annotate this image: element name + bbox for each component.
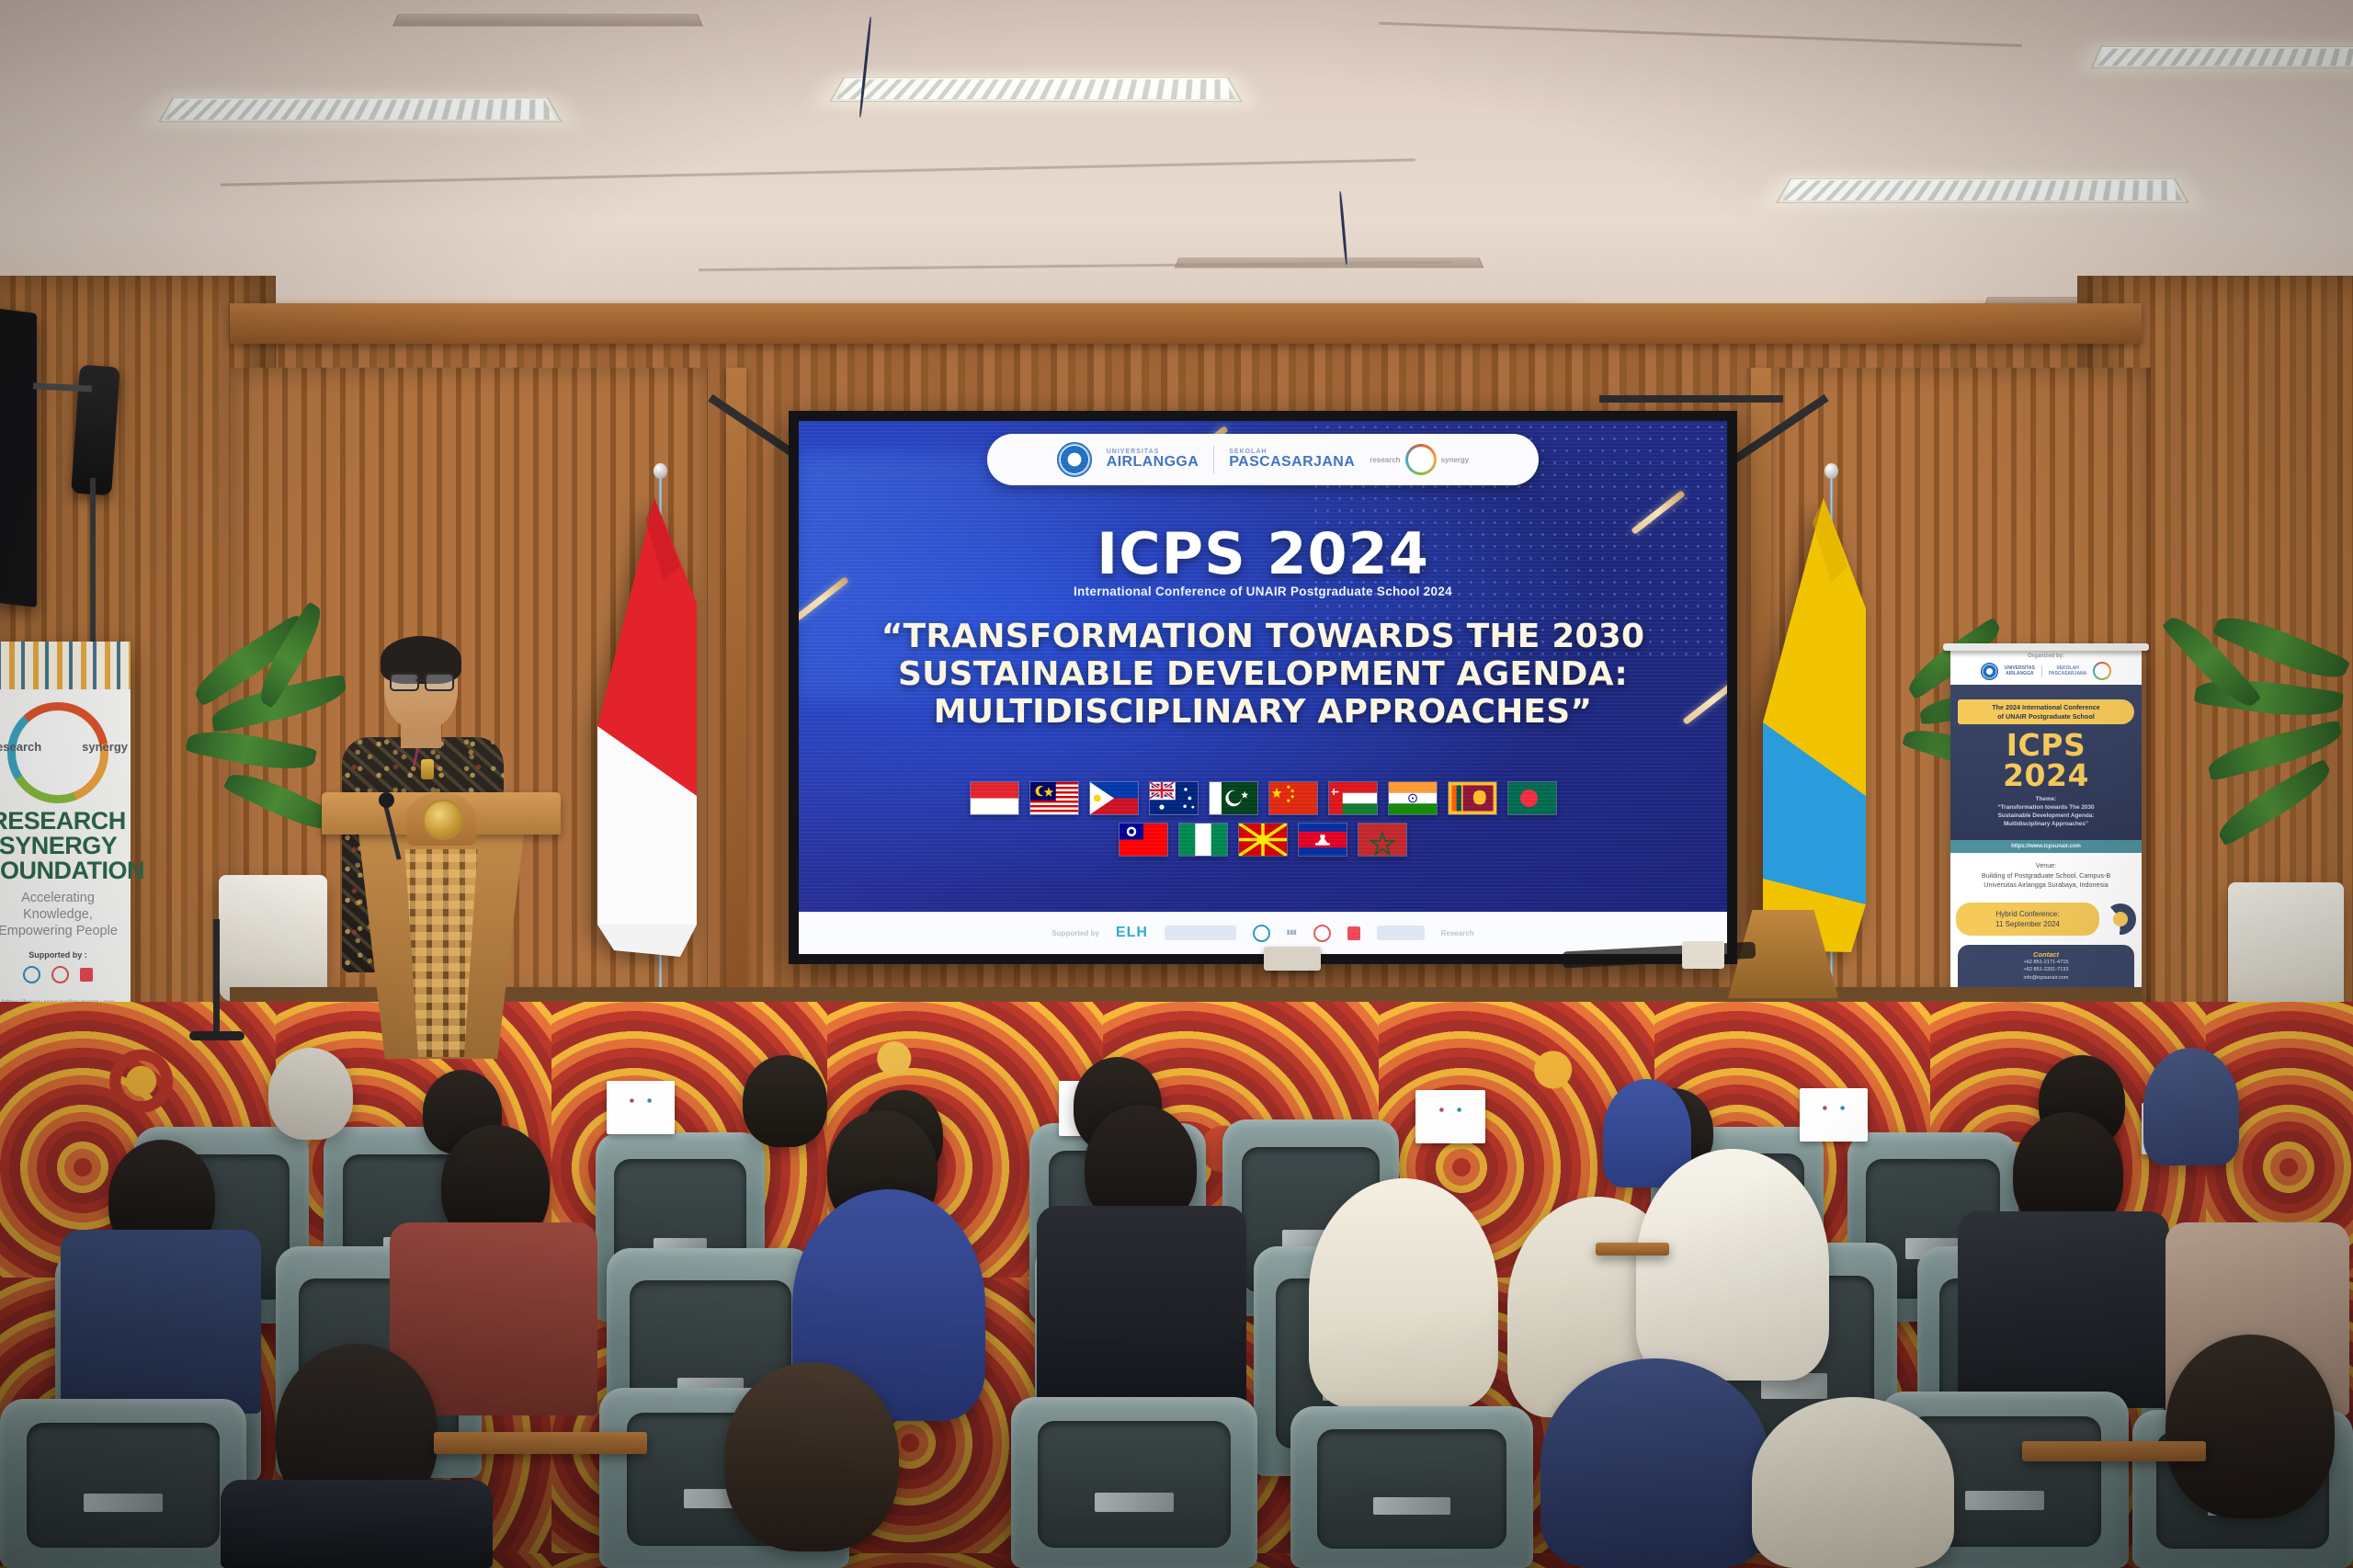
university-gold-seal-icon	[423, 800, 463, 840]
audience-hijab	[2143, 1048, 2239, 1165]
participating-country-flags	[799, 781, 1727, 864]
rollup-theme-line-2: Sustainable Development Agenda:	[1958, 812, 2134, 821]
sponsor-logo-chip	[1377, 926, 1425, 940]
flag-sri-lanka	[1448, 781, 1497, 815]
rollup-school-label: SEKOLAHPASCASARJANA	[2049, 665, 2086, 676]
rollup-theme-line-1: “Transformation towards The 2030	[1958, 804, 2134, 812]
rsf-word-research: research	[0, 740, 41, 754]
flag-pakistan	[1209, 781, 1258, 815]
rollup-theme-line-3: Multidisciplinary Approaches”	[1958, 821, 2134, 829]
ceiling	[0, 0, 2353, 317]
audience-hijab	[1309, 1178, 1498, 1408]
banner-ornament-top	[0, 642, 131, 689]
audience-hijab	[1540, 1358, 1770, 1568]
rsf-tagline-line-2: Empowering People	[0, 923, 131, 939]
conference-hall-photo: UNIVERSITAS AIRLANGGA SEKOLAH PASCASARJA…	[0, 0, 2353, 1568]
rollup-divider	[2041, 665, 2042, 677]
ceiling-light	[1776, 178, 2189, 203]
rollup-organized-label: Organized by:	[1954, 653, 2138, 659]
slide-subtitle: International Conference of UNAIR Postgr…	[799, 585, 1727, 598]
audience-torso	[61, 1230, 261, 1414]
planter-right	[2228, 882, 2344, 1020]
rollup-theme: Theme: “Transformation towards The 2030 …	[1958, 796, 2134, 829]
audience-head	[268, 1048, 353, 1140]
flag-north-macedonia	[1238, 823, 1288, 857]
rollup-tagline: The 2024 International Conference of UNA…	[1958, 699, 2134, 724]
rollup-arc-icon	[2105, 903, 2136, 935]
theme-line-3: MULTIDISCIPLINARY APPROACHES”	[835, 693, 1689, 731]
sponsor-square-logo-icon	[1347, 926, 1360, 940]
school-big-label: PASCASARJANA	[1229, 455, 1355, 470]
flag-philippines	[1089, 781, 1139, 815]
rollup-venue-line-2: Universitas Airlangga Surabaya, Indonesi…	[1956, 881, 2136, 890]
chair[interactable]	[1290, 1406, 1533, 1568]
planter-left	[219, 875, 327, 1002]
universitas-airlangga-flag	[1752, 493, 1875, 961]
side-table	[434, 1432, 647, 1454]
research-synergy-ring-icon	[1405, 444, 1437, 475]
rollup-website-url: https://www.icpsunair.com	[1950, 840, 2142, 853]
ceiling-light	[158, 97, 563, 122]
rollup-date-pill: Hybrid Conference: 11 September 2024	[1956, 903, 2099, 936]
ceiling-light	[829, 77, 1243, 102]
audience-hijab	[1636, 1149, 1829, 1381]
rsf-heading-line-1: RESEARCH	[0, 809, 131, 834]
rollup-venue-line-1: Building of Postgraduate School, Campus-…	[1956, 871, 2136, 881]
theme-line-1: “TRANSFORMATION TOWARDS THE 2030	[835, 618, 1689, 655]
rollup-contact-panel: Contact +62 851-2171-4715 +62 851-2331-7…	[1958, 945, 2134, 987]
flag-row-bottom	[799, 823, 1727, 857]
research-synergy-ring-icon: research synergy	[7, 702, 108, 803]
microphone-head-icon	[379, 792, 394, 808]
sponsor-elh-logo: ELH	[1116, 925, 1148, 941]
rollup-top-bar	[1943, 643, 2149, 651]
rsf-heading-line-3: FOUNDATION	[0, 858, 131, 883]
rollup-contact-phone-1: +62 851-2171-4715	[1963, 959, 2129, 966]
flagpole-finial-right	[1824, 463, 1838, 479]
podium-lectern	[322, 792, 561, 1059]
flag-taiwan	[1119, 823, 1168, 857]
flag-oman	[1328, 781, 1378, 815]
rollup-tagline-line-1: The 2024 International Conference	[1963, 703, 2129, 712]
sponsor-ring-logo-icon	[1313, 925, 1331, 942]
rsf-tagline-line-1: Accelerating Knowledge,	[0, 890, 131, 923]
side-table	[2022, 1441, 2206, 1461]
presentation-slide: UNIVERSITAS AIRLANGGA SEKOLAH PASCASARJA…	[799, 421, 1727, 954]
wall-vertical-beam	[726, 368, 746, 1002]
audience-torso	[221, 1480, 493, 1568]
flagpole-finial-left	[654, 463, 667, 479]
flag-china	[1268, 781, 1318, 815]
rollup-contact-email: info@icpsunair.com	[1963, 974, 2129, 982]
supporter-logo-icon	[51, 966, 69, 983]
logo-divider	[1213, 446, 1214, 473]
flag-morocco	[1358, 823, 1407, 857]
slide-logo-bar: UNIVERSITAS AIRLANGGA SEKOLAH PASCASARJA…	[987, 434, 1539, 485]
university-big-label: AIRLANGGA	[1107, 455, 1199, 470]
theme-line-2: SUSTAINABLE DEVELOPMENT AGENDA:	[835, 655, 1689, 693]
floor-power-box	[1264, 947, 1321, 971]
flag-row-top	[799, 781, 1727, 815]
supporter-logo-icon	[80, 968, 93, 982]
rollup-title: ICPS 2024	[1958, 730, 2134, 790]
slide-title: ICPS 2024	[799, 520, 1727, 587]
audience-torso	[1037, 1206, 1246, 1404]
wall-header-beam	[230, 303, 2142, 344]
rollup-contact-phone-2: +62 851-2331-7133	[1963, 966, 2129, 973]
rollup-tagline-line-2: of UNAIR Postgraduate School	[1963, 712, 2129, 722]
rsf-tagline: Accelerating Knowledge, Empowering Peopl…	[0, 890, 131, 939]
rsf-word-synergy: synergy	[82, 740, 128, 754]
led-video-wall: UNIVERSITAS AIRLANGGA SEKOLAH PASCASARJA…	[789, 411, 1737, 964]
ceiling-vent	[1174, 257, 1483, 267]
screen-support-rail	[1599, 395, 1783, 403]
audience-torso	[1958, 1211, 2169, 1408]
supporter-logo-icon	[23, 966, 40, 983]
rsf-heading-line-2: SYNERGY	[0, 834, 131, 858]
rollup-venue-label: Venue:	[1956, 861, 2136, 870]
sponsor-supported-label: Supported by	[1051, 929, 1099, 937]
rollup-organized-section: Organized by: UNIVERSITASAIRLANGGA SEKOL…	[1950, 649, 2142, 685]
school-logotype: SEKOLAH PASCASARJANA	[1229, 449, 1355, 470]
sponsor-logo-text: ▮▮▮	[1287, 929, 1297, 937]
flag-cambodia	[1298, 823, 1347, 857]
side-table	[1596, 1243, 1669, 1256]
mic-stand-pole	[213, 919, 220, 1039]
chair[interactable]	[0, 1399, 246, 1568]
speaker-glasses-icon	[390, 673, 454, 688]
rsf-heading: RESEARCH SYNERGY FOUNDATION	[0, 809, 131, 883]
audience-hijab	[1752, 1397, 1954, 1568]
flag-bangladesh	[1507, 781, 1557, 815]
mic-stand-base	[189, 1031, 244, 1040]
sponsor-logo-chip	[1165, 926, 1236, 940]
research-synergy-word-left: research	[1370, 456, 1400, 464]
flag-nigeria	[1178, 823, 1228, 857]
slide-sponsor-bar: Supported by ELH ▮▮▮ Research	[799, 912, 1727, 954]
rollup-venue: Venue: Building of Postgraduate School, …	[1950, 853, 2142, 898]
rollup-unair-label: UNIVERSITASAIRLANGGA	[2005, 665, 2035, 676]
rollup-date-section: Hybrid Conference: 11 September 2024	[1950, 899, 2142, 945]
flag-australia	[1149, 781, 1199, 815]
ceiling-vent	[392, 15, 703, 27]
slide-theme-text: “TRANSFORMATION TOWARDS THE 2030 SUSTAIN…	[835, 618, 1689, 731]
sponsor-last-label: Research	[1441, 929, 1474, 937]
wall-monitor	[0, 308, 37, 608]
unair-seal-icon	[1981, 663, 1998, 680]
rollup-contact-label: Contact	[1963, 950, 2129, 959]
research-synergy-logo: research synergy	[1370, 444, 1469, 475]
flag-indonesia	[970, 781, 1019, 815]
seat-namecard	[1800, 1088, 1868, 1142]
universitas-airlangga-seal-icon	[1057, 442, 1092, 477]
sponsor-ring-logo-icon	[1253, 925, 1270, 942]
rollup-mode-label: Hybrid Conference:	[1964, 909, 2091, 919]
chair[interactable]	[1011, 1397, 1257, 1568]
audience-head	[2165, 1335, 2335, 1518]
research-synergy-word-right: synergy	[1441, 456, 1470, 464]
rsf-supported-label: Supported by :	[0, 950, 131, 960]
flag-malaysia	[1029, 781, 1079, 815]
audience-head	[743, 1055, 827, 1147]
rollup-date: 11 September 2024	[1964, 919, 2091, 929]
university-logotype: UNIVERSITAS AIRLANGGA	[1107, 449, 1199, 470]
audience-head	[724, 1362, 899, 1551]
floor-power-box	[1682, 941, 1724, 969]
speaker-name-badge	[421, 759, 434, 779]
flag-india	[1388, 781, 1438, 815]
seat-namecard	[1415, 1090, 1485, 1143]
indonesia-flag	[588, 493, 708, 961]
ceiling-light	[2090, 46, 2353, 68]
research-synergy-ring-icon	[2093, 662, 2111, 680]
rollup-theme-label: Theme:	[1958, 796, 2134, 804]
rsf-supporter-logos	[0, 966, 131, 983]
seat-namecard	[607, 1081, 675, 1134]
rollup-main-panel: The 2024 International Conference of UNA…	[1950, 685, 2142, 840]
